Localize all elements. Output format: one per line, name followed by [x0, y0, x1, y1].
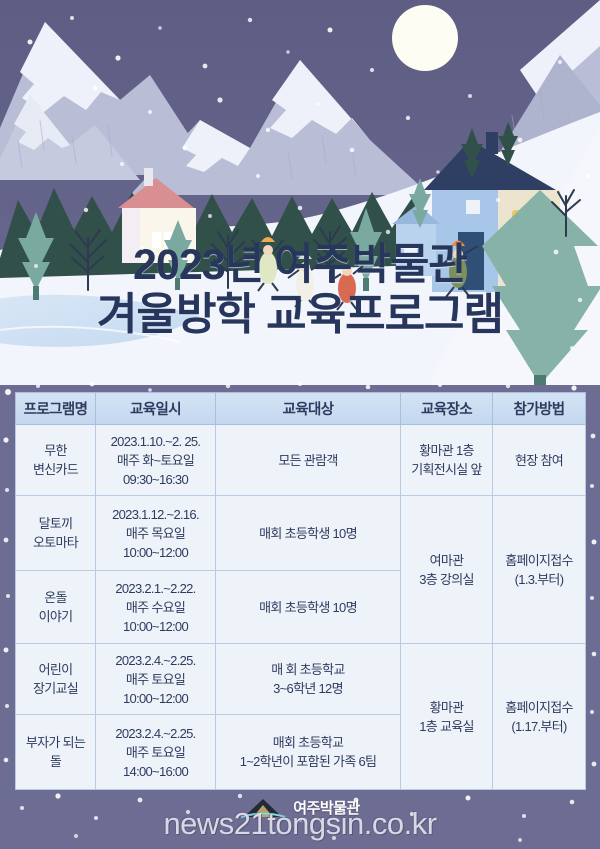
cell-program-name-line: 장기교실 [18, 679, 93, 698]
col-header-method: 참가방법 [493, 393, 586, 425]
cell-location-line: 여마관 [403, 551, 490, 570]
table-body: 무한변신카드2023.1.10.~2. 25.매주 화~토요일09:30~16:… [16, 425, 586, 790]
cell-location-line: 기획전시실 앞 [403, 460, 490, 479]
cell-audience-line: 3~6학년 12명 [218, 679, 398, 698]
cell-location-line: 3층 강의실 [403, 570, 490, 589]
col-header-audience: 교육대상 [216, 393, 401, 425]
moon-icon [392, 5, 458, 71]
cell-program-name-line: 오토마타 [18, 533, 93, 552]
cell-schedule-line: 2023.1.10.~2. 25. [98, 432, 213, 451]
watermark-text: news21tongsin.co.kr [0, 806, 600, 842]
cell-program-name-line: 부자가 되는 [18, 733, 93, 752]
cell-audience: 매회 초등학교1~2학년이 포함된 가족 6팀 [216, 715, 401, 790]
poster-footer: 여주박물관 news21tongsin.co.kr [0, 790, 600, 849]
cell-program-name-line: 돌 [18, 752, 93, 771]
cell-program-name: 무한변신카드 [16, 425, 96, 496]
cell-schedule-line: 매주 목요일 [98, 524, 213, 543]
col-header-program-name: 프로그램명 [16, 393, 96, 425]
cell-schedule-line: 10:00~12:00 [98, 617, 213, 636]
cell-location-line: 황마관 1층 [403, 441, 490, 460]
cell-program-name: 부자가 되는돌 [16, 715, 96, 790]
cell-method-line: 현장 참여 [495, 451, 583, 470]
cell-program-name-line: 이야기 [18, 607, 93, 626]
cell-method-line: 홈페이지접수 [495, 698, 583, 717]
cell-method-line: 홈페이지접수 [495, 551, 583, 570]
cell-schedule-line: 2023.2.4.~2.25. [98, 651, 213, 670]
cell-location: 여마관3층 강의실 [401, 496, 493, 644]
cell-schedule-line: 14:00~16:00 [98, 762, 213, 781]
cell-program-name-line: 온돌 [18, 588, 93, 607]
table-row: 무한변신카드2023.1.10.~2. 25.매주 화~토요일09:30~16:… [16, 425, 586, 496]
winter-illustration [0, 0, 600, 385]
cell-method-line: (1.3.부터) [495, 570, 583, 589]
cell-audience: 매회 초등학생 10명 [216, 571, 401, 644]
cell-schedule: 2023.2.4.~2.25.매주 토요일14:00~16:00 [96, 715, 216, 790]
col-header-schedule: 교육일시 [96, 393, 216, 425]
cell-audience: 매회 초등학생 10명 [216, 496, 401, 571]
cell-location-line: 황마관 [403, 698, 490, 717]
cell-schedule: 2023.1.10.~2. 25.매주 화~토요일09:30~16:30 [96, 425, 216, 496]
col-header-location: 교육장소 [401, 393, 493, 425]
cell-program-name-line: 어린이 [18, 660, 93, 679]
table-header-row: 프로그램명 교육일시 교육대상 교육장소 참가방법 [16, 393, 586, 425]
cell-schedule-line: 매주 화~토요일 [98, 451, 213, 470]
cell-audience: 모든 관람객 [216, 425, 401, 496]
cell-schedule-line: 매주 수요일 [98, 598, 213, 617]
poster-root: 2023년 여주박물관 겨울방학 교육프로그램 [0, 0, 600, 849]
cell-location-line: 1층 교육실 [403, 717, 490, 736]
cell-schedule-line: 2023.2.1.~2.22. [98, 579, 213, 598]
cell-schedule: 2023.2.4.~2.25.매주 토요일10:00~12:00 [96, 644, 216, 715]
table-row: 어린이장기교실2023.2.4.~2.25.매주 토요일10:00~12:00매… [16, 644, 586, 715]
cell-program-name-line: 달토끼 [18, 514, 93, 533]
cell-schedule: 2023.1.12.~2.16.매주 목요일10:00~12:00 [96, 496, 216, 571]
cell-program-name: 어린이장기교실 [16, 644, 96, 715]
cell-method-line: (1.17.부터) [495, 717, 583, 736]
cell-schedule-line: 09:30~16:30 [98, 470, 213, 489]
cell-schedule: 2023.2.1.~2.22.매주 수요일10:00~12:00 [96, 571, 216, 644]
cell-method: 현장 참여 [493, 425, 586, 496]
cell-audience-line: 매회 초등학생 10명 [218, 524, 398, 543]
program-table: 프로그램명 교육일시 교육대상 교육장소 참가방법 무한변신카드2023.1.1… [15, 392, 586, 790]
cell-location: 황마관 1층기획전시실 앞 [401, 425, 493, 496]
cell-program-name: 온돌이야기 [16, 571, 96, 644]
cell-schedule-line: 매주 토요일 [98, 670, 213, 689]
cell-audience-line: 매 회 초등학교 [218, 660, 398, 679]
cell-audience-line: 1~2학년이 포함된 가족 6팀 [218, 752, 398, 771]
cell-audience-line: 모든 관람객 [218, 451, 398, 470]
cell-audience-line: 매회 초등학생 10명 [218, 598, 398, 617]
cell-program-name-line: 무한 [18, 441, 93, 460]
cell-schedule-line: 10:00~12:00 [98, 543, 213, 562]
cell-audience: 매 회 초등학교3~6학년 12명 [216, 644, 401, 715]
cell-method: 홈페이지접수(1.3.부터) [493, 496, 586, 644]
cell-schedule-line: 2023.2.4.~2.25. [98, 724, 213, 743]
cell-program-name-line: 변신카드 [18, 460, 93, 479]
cell-schedule-line: 10:00~12:00 [98, 689, 213, 708]
cell-schedule-line: 2023.1.12.~2.16. [98, 505, 213, 524]
cell-audience-line: 매회 초등학교 [218, 733, 398, 752]
table-row: 달토끼오토마타2023.1.12.~2.16.매주 목요일10:00~12:00… [16, 496, 586, 571]
cell-method: 홈페이지접수(1.17.부터) [493, 644, 586, 790]
cell-schedule-line: 매주 토요일 [98, 743, 213, 762]
cell-program-name: 달토끼오토마타 [16, 496, 96, 571]
program-table-area: 프로그램명 교육일시 교육대상 교육장소 참가방법 무한변신카드2023.1.1… [15, 392, 585, 790]
cell-location: 황마관1층 교육실 [401, 644, 493, 790]
